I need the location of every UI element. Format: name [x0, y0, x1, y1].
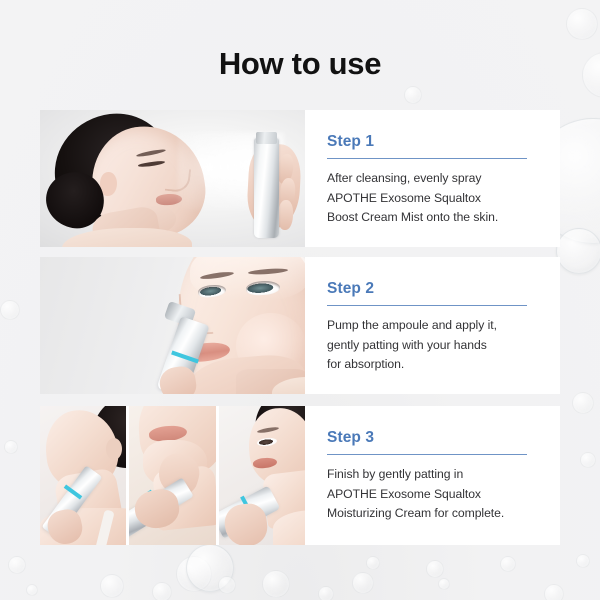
- droplet-icon: [26, 584, 38, 596]
- step-3-divider: [327, 454, 527, 455]
- step-3-photo-panel-3: [219, 406, 305, 545]
- step-1-divider: [327, 158, 527, 159]
- step-2-line-2: gently patting with your hands: [327, 336, 560, 356]
- step-3-photo: [40, 406, 305, 545]
- step-1-line-3: Boost Cream Mist onto the skin.: [327, 208, 560, 228]
- droplet-icon: [100, 574, 124, 598]
- droplet-icon: [576, 554, 590, 568]
- step-1-text-block: Step 1 After cleansing, evenly spray APO…: [305, 110, 560, 247]
- droplet-icon: [152, 582, 172, 600]
- step-3-heading: Step 3: [327, 429, 560, 447]
- step-2-heading: Step 2: [327, 280, 560, 298]
- step-2-line-1: Pump the ampoule and apply it,: [327, 316, 560, 336]
- step-3-line-2: APOTHE Exosome Squaltox: [327, 485, 560, 505]
- step-1-heading: Step 1: [327, 133, 560, 151]
- droplet-icon: [186, 544, 234, 592]
- droplet-icon: [8, 556, 26, 574]
- spray-nozzle-shape: [256, 132, 277, 144]
- ear-shape: [106, 438, 122, 460]
- page-title: How to use: [0, 46, 600, 82]
- droplet-icon: [572, 392, 594, 414]
- step-card-1: Step 1 After cleansing, evenly spray APO…: [40, 110, 560, 247]
- droplet-icon: [404, 86, 422, 104]
- step-card-2: Step 2 Pump the ampoule and apply it, ge…: [40, 257, 560, 394]
- droplet-icon: [426, 560, 444, 578]
- step-3-photo-panel-2: [129, 406, 215, 545]
- droplet-icon: [556, 228, 600, 274]
- droplet-icon: [318, 586, 334, 600]
- droplet-icon: [218, 576, 236, 594]
- finger-shape: [277, 200, 294, 231]
- shoulder-shape: [62, 228, 192, 247]
- step-2-divider: [327, 305, 527, 306]
- droplet-icon: [0, 300, 20, 320]
- droplet-icon: [544, 584, 564, 600]
- step-3-photo-panel-1: [40, 406, 126, 545]
- droplet-icon: [176, 556, 212, 592]
- step-2-line-3: for absorption.: [327, 355, 560, 375]
- droplet-icon: [366, 556, 380, 570]
- step-card-3: Step 3 Finish by gently patting in APOTH…: [40, 406, 560, 545]
- step-2-text-block: Step 2 Pump the ampoule and apply it, ge…: [305, 257, 560, 394]
- droplet-icon: [438, 578, 450, 590]
- droplet-icon: [352, 572, 374, 594]
- droplet-icon: [580, 452, 596, 468]
- step-3-line-1: Finish by gently patting in: [327, 465, 560, 485]
- step-1-photo: [40, 110, 305, 247]
- step-2-photo: [40, 257, 305, 394]
- step-1-line-2: APOTHE Exosome Squaltox: [327, 189, 560, 209]
- step-3-line-3: Moisturizing Cream for complete.: [327, 504, 560, 524]
- droplet-icon: [4, 440, 18, 454]
- droplet-icon: [566, 8, 598, 40]
- mist-bottle-shape: [254, 138, 279, 238]
- step-3-text-block: Step 3 Finish by gently patting in APOTH…: [305, 406, 560, 545]
- hand-shape: [223, 502, 269, 545]
- step-1-line-1: After cleansing, evenly spray: [327, 169, 560, 189]
- droplet-icon: [262, 570, 290, 598]
- how-to-use-page: How to use Step 1 After cleansing: [0, 0, 600, 600]
- droplet-icon: [500, 556, 516, 572]
